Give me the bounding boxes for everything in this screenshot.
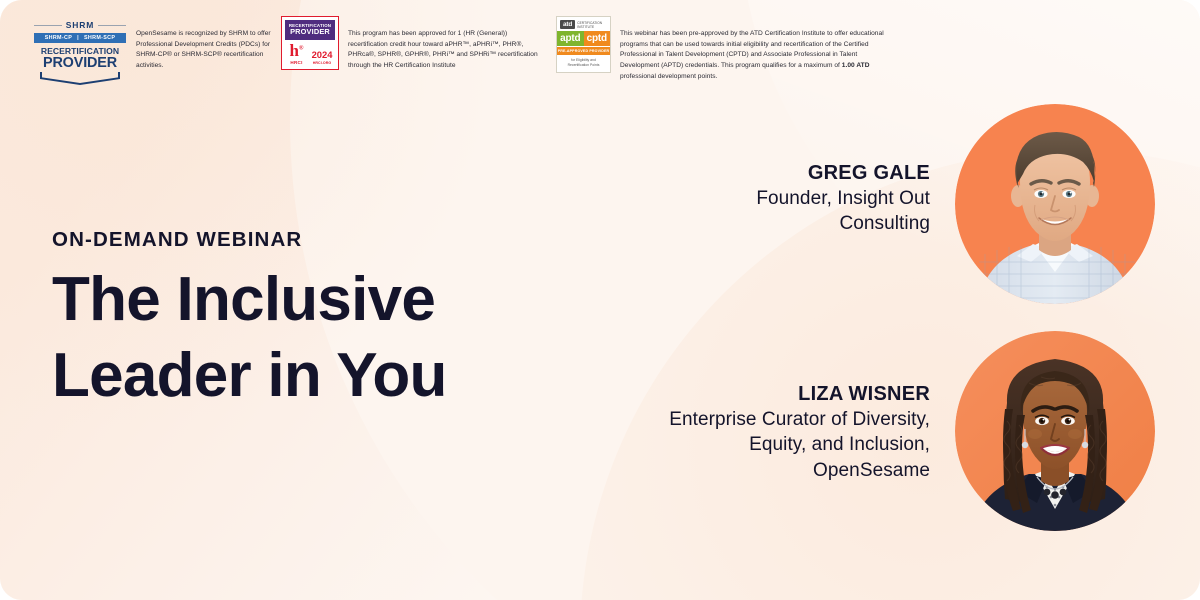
- hrci-year: 2024: [310, 50, 334, 59]
- speaker-1-name: GREG GALE: [640, 160, 930, 186]
- hrci-url: HRCI.ORG: [310, 61, 334, 65]
- atd-cptd-label: cptd: [584, 31, 611, 46]
- hrci-badge-body: h® HRCI 2024 HRCI.ORG: [285, 40, 335, 65]
- atd-logo: atd: [560, 20, 575, 29]
- hrci-provider-bar: RECERTIFICATION PROVIDER: [285, 20, 335, 40]
- hrci-description: This program has been approved for 1 (HR…: [348, 16, 544, 72]
- atd-credential-row: aptd cptd: [557, 31, 610, 46]
- speaker-2-role-line-1: Enterprise Curator of Diversity,: [600, 407, 930, 432]
- eyebrow-label: ON-DEMAND WEBINAR: [52, 228, 302, 252]
- shrm-org-label: SHRM: [66, 20, 94, 30]
- atd-footer-note: for Eligibility and Recertification Poin…: [557, 55, 610, 72]
- shrm-rule-left: [34, 25, 62, 26]
- speaker-2-info: LIZA WISNER Enterprise Curator of Divers…: [600, 381, 930, 483]
- shrm-rule-right: [98, 25, 126, 26]
- hrci-h-logo: h®: [286, 44, 307, 58]
- page-title: The Inclusive Leader in You: [52, 262, 672, 413]
- atd-pre-approved-provider-badge: atd CERTIFICATION INSTITUTE aptd cptd PR…: [556, 16, 611, 73]
- shrm-badge-top: SHRM: [34, 20, 126, 30]
- atd-institute-label: CERTIFICATION INSTITUTE: [577, 21, 602, 29]
- speaker-1-role-line-1: Founder, Insight Out: [640, 186, 930, 211]
- hrci-year-group: 2024 HRCI.ORG: [310, 50, 334, 64]
- shrm-cert-divider: |: [77, 35, 79, 41]
- hrci-provider-label: PROVIDER: [286, 28, 334, 36]
- webinar-promo-card: SHRM SHRM-CP | SHRM-SCP RECERTIFICATION …: [0, 0, 1200, 600]
- shrm-ribbon-shape: [34, 72, 126, 86]
- hrci-recertification-provider-badge: RECERTIFICATION PROVIDER h® HRCI 2024 HR…: [281, 16, 339, 70]
- shrm-recertification-provider-badge: SHRM SHRM-CP | SHRM-SCP RECERTIFICATION …: [34, 16, 126, 86]
- page-title-line-1: The Inclusive: [52, 262, 672, 338]
- atd-description-points: 1.00 ATD: [842, 62, 870, 69]
- shrm-cert-scp: SHRM-SCP: [84, 35, 115, 41]
- atd-description: This webinar has been pre-approved by th…: [620, 16, 892, 82]
- speaker-2-avatar: [955, 331, 1155, 531]
- shrm-cert-cp: SHRM-CP: [45, 35, 72, 41]
- page-title-line-2: Leader in You: [52, 338, 672, 414]
- atd-description-part2: professional development points.: [620, 73, 717, 80]
- atd-preapproved-bar: PRE-APPROVED PROVIDER: [557, 46, 610, 55]
- speaker-1-info: GREG GALE Founder, Insight Out Consultin…: [640, 160, 930, 237]
- shrm-provider-label: PROVIDER: [34, 56, 126, 71]
- speaker-2-role-line-2: Equity, and Inclusion,: [600, 432, 930, 457]
- atd-aptd-label: aptd: [557, 31, 584, 46]
- speaker-1-avatar: [955, 104, 1155, 304]
- atd-badge-top: atd CERTIFICATION INSTITUTE: [557, 17, 610, 31]
- hrci-logo-group: h® HRCI: [286, 44, 307, 64]
- credential-strip: SHRM SHRM-CP | SHRM-SCP RECERTIFICATION …: [34, 16, 894, 96]
- shrm-description: OpenSesame is recognized by SHRM to offe…: [136, 16, 271, 72]
- speaker-2-role-line-3: OpenSesame: [600, 458, 930, 483]
- speaker-1-role-line-2: Consulting: [640, 211, 930, 236]
- hrci-org-label: HRCI: [286, 60, 307, 65]
- shrm-cert-bar: SHRM-CP | SHRM-SCP: [34, 33, 126, 44]
- speaker-2-name: LIZA WISNER: [600, 381, 930, 407]
